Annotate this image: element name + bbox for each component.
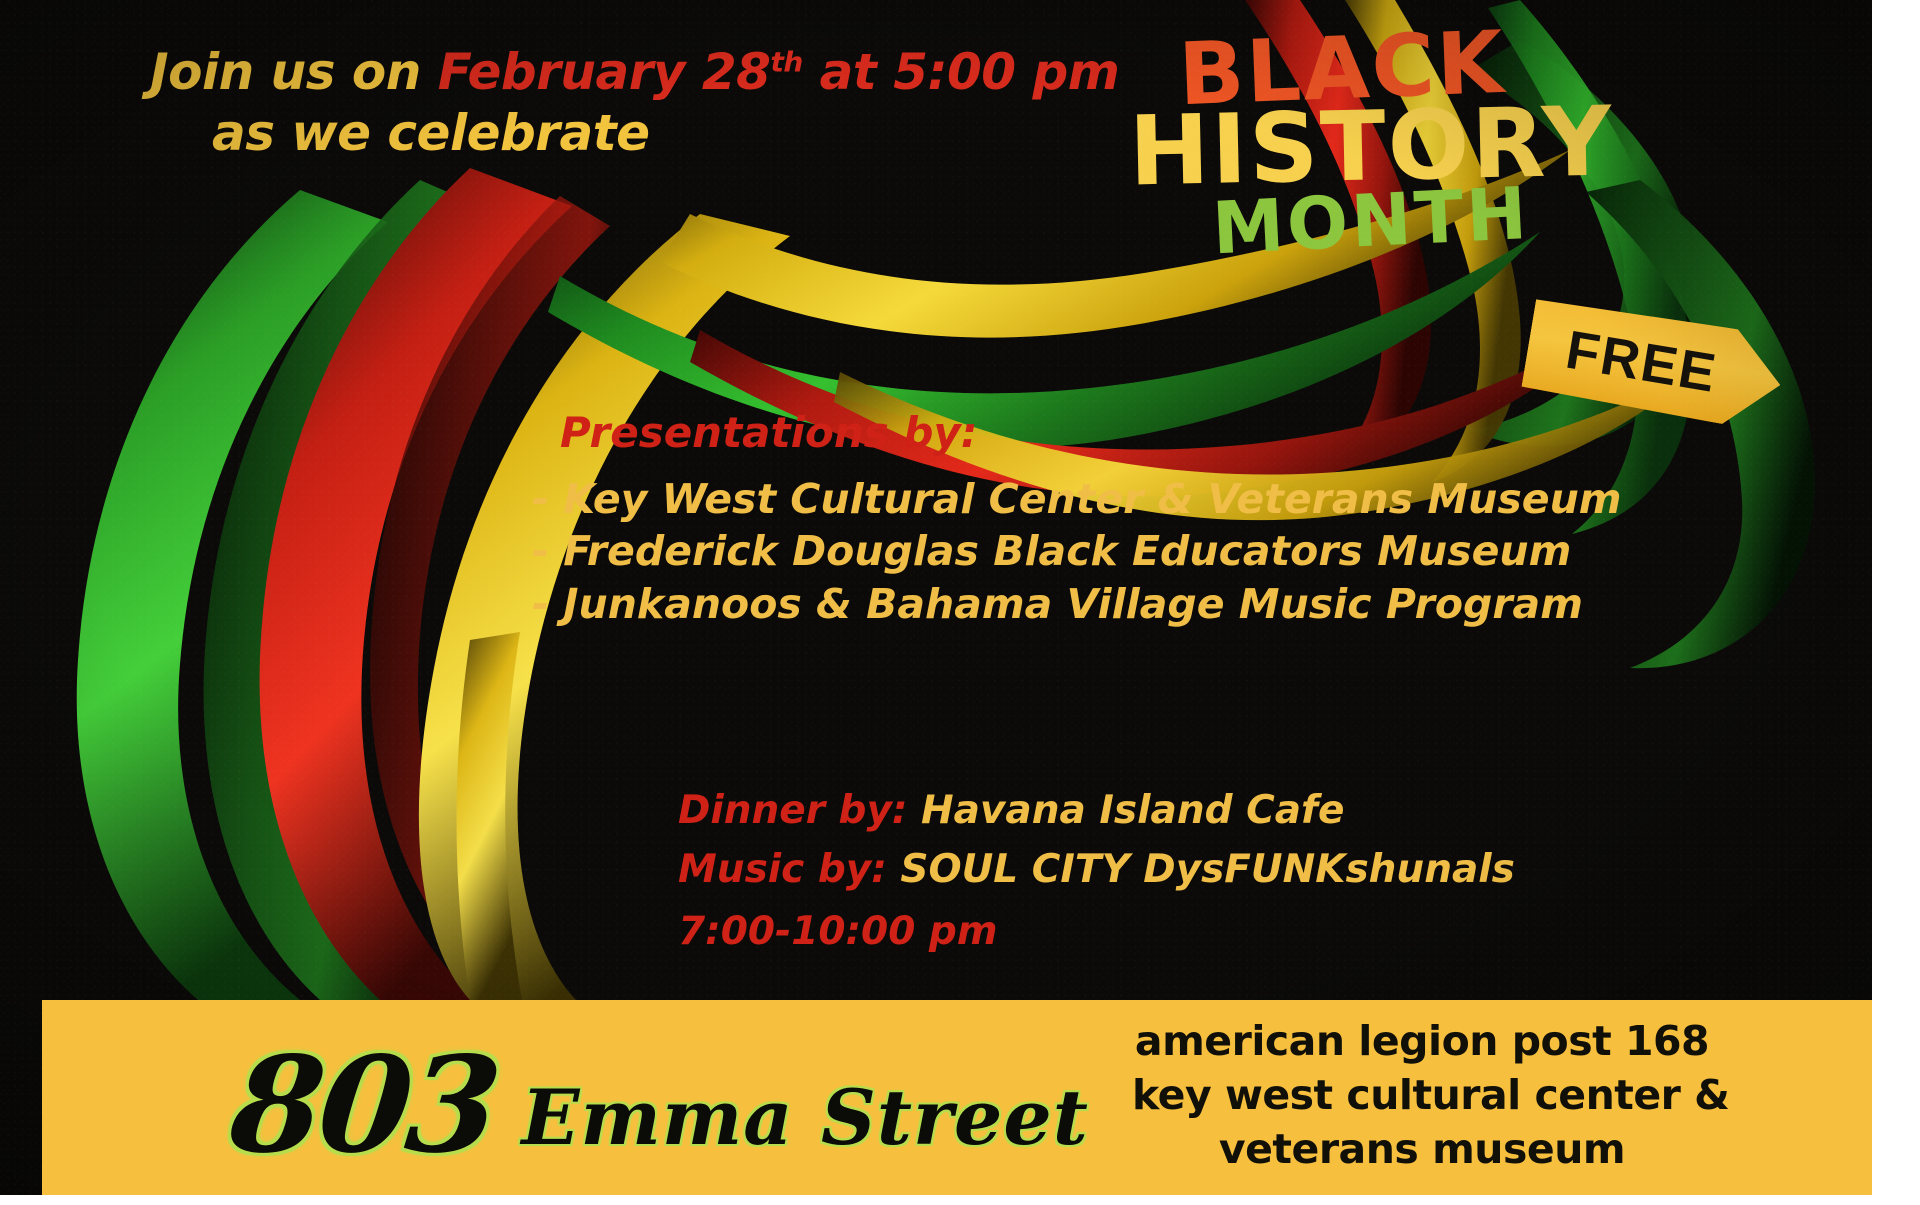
presentations-block: Presentations by: - Key West Cultural Ce…: [560, 408, 1570, 630]
black-history-month-flyer: Join us on February 28th at 5:00 pm as w…: [0, 0, 1920, 1205]
address-street: Emma Street: [522, 1080, 1089, 1156]
presentations-heading: Presentations by:: [560, 408, 1570, 457]
presentation-item: - Key West Cultural Center & Veterans Mu…: [532, 473, 1570, 525]
venue-line: veterans museum: [1132, 1122, 1712, 1176]
address-banner: 803 Emma Street american legion post 168…: [42, 1000, 1872, 1195]
music-label: Music by:: [678, 847, 887, 892]
event-time: 7:00-10:00 pm: [678, 909, 1578, 954]
headline-time: at 5:00 pm: [803, 43, 1120, 101]
scan-right-margin: [1872, 0, 1920, 1205]
presentation-item: - Junkanoos & Bahama Village Music Progr…: [532, 578, 1570, 630]
music-value: SOUL CITY DysFUNKshunals: [887, 847, 1515, 892]
venue-line: american legion post 168: [1132, 1014, 1712, 1068]
scan-bottom-margin: [0, 1195, 1920, 1205]
black-history-month-logo: BLACK HISTORY MONTH: [1135, 30, 1555, 320]
headline-line-2: as we celebrate: [150, 103, 980, 164]
headline-line-1: Join us on February 28th at 5:00 pm: [150, 42, 980, 103]
venue-block: american legion post 168 key west cultur…: [1132, 1014, 1712, 1176]
music-line: Music by: SOUL CITY DysFUNKshunals: [678, 841, 1578, 900]
dinner-label: Dinner by:: [678, 788, 907, 833]
address-number: 803: [225, 1040, 502, 1172]
headline-ordinal: th: [770, 45, 802, 78]
headline-date: February 28: [438, 43, 771, 101]
dinner-value: Havana Island Cafe: [907, 788, 1344, 833]
services-block: Dinner by: Havana Island Cafe Music by: …: [678, 782, 1578, 954]
dinner-line: Dinner by: Havana Island Cafe: [678, 782, 1578, 841]
headline-block: Join us on February 28th at 5:00 pm as w…: [150, 42, 980, 164]
logo-word-month: MONTH: [1160, 178, 1583, 265]
presentation-item: - Frederick Douglas Black Educators Muse…: [532, 525, 1570, 577]
venue-line: key west cultural center &: [1132, 1068, 1712, 1122]
headline-prefix: Join us on: [150, 43, 438, 101]
address-group: 803 Emma Street: [232, 1012, 1089, 1172]
